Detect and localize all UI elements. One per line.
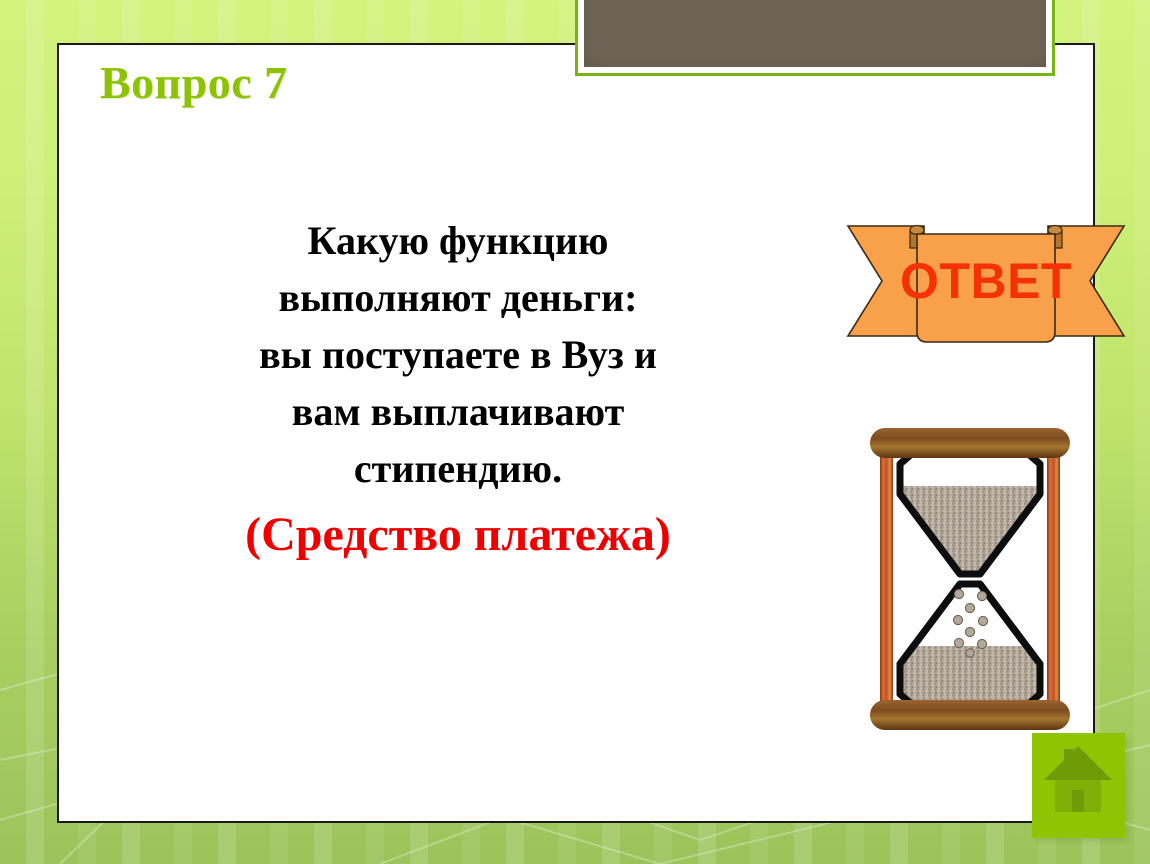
question-text-block: Какую функцию выполняют деньги: вы посту… (120, 212, 796, 571)
question-line: вам выплачивают (120, 383, 796, 440)
question-line: вы поступаете в Вуз и (120, 326, 796, 383)
answer-banner-button[interactable]: ОТВЕТ (846, 218, 1126, 344)
question-line: стипендию. (120, 440, 796, 497)
hourglass-icon (862, 424, 1078, 734)
question-line: Какую функцию (120, 212, 796, 269)
question-line: выполняют деньги: (120, 269, 796, 326)
page-title: Вопрос 7 (100, 56, 288, 109)
brown-plaque (575, 0, 1055, 76)
answer-text: (Средство платежа) (120, 499, 796, 571)
home-button[interactable] (1032, 733, 1125, 838)
plaque-surface (584, 0, 1046, 67)
ribbon-shape (846, 218, 1126, 344)
home-icon (1032, 733, 1125, 838)
slide: Вопрос 7 Какую функцию выполняют деньги:… (0, 0, 1150, 864)
